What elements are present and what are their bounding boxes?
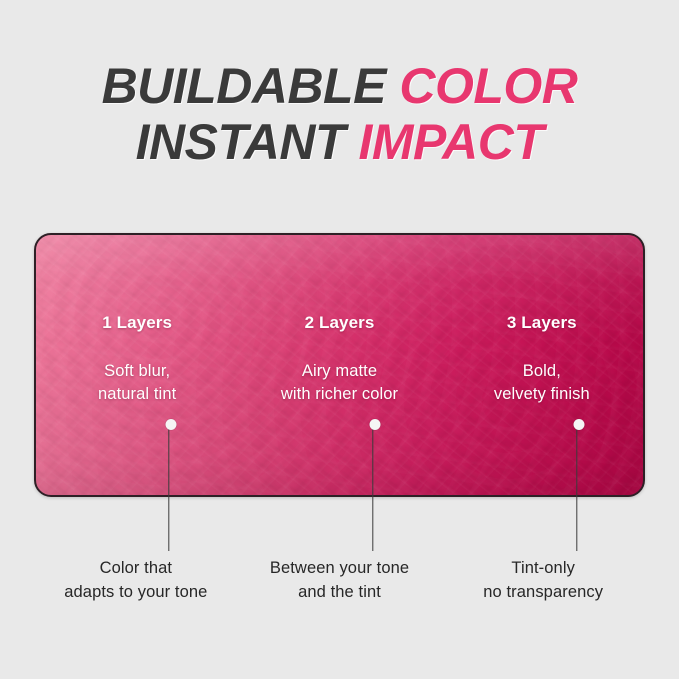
headline-word-buildable: BUILDABLE — [102, 58, 386, 114]
layer-description-3: Bold, velvety finish — [441, 360, 643, 406]
layer-title-2: 2 Layers — [238, 313, 440, 333]
layer-column-2: 2 Layers Airy matte with richer color — [238, 235, 440, 495]
layer-description-2: Airy matte with richer color — [238, 360, 440, 406]
promo-image-root: BUILDABLE COLOR INSTANT IMPACT 1 Layers … — [0, 0, 679, 679]
layer-dot-marker-2 — [370, 419, 381, 430]
headline: BUILDABLE COLOR INSTANT IMPACT — [0, 58, 679, 170]
headline-word-impact: IMPACT — [358, 114, 543, 170]
headline-word-color: COLOR — [399, 58, 577, 114]
layer-columns: 1 Layers Soft blur, natural tint 2 Layer… — [36, 235, 643, 495]
layer-dot-marker-3 — [574, 419, 585, 430]
caption-row: Color that adapts to your tone Between y… — [34, 556, 645, 604]
layer-title-1: 1 Layers — [36, 313, 238, 333]
layer-title-3: 3 Layers — [441, 313, 643, 333]
swatch-sheen-overlay — [36, 235, 643, 495]
headline-line-2: INSTANT IMPACT — [0, 114, 679, 170]
leader-line-1 — [168, 423, 169, 551]
headline-word-instant: INSTANT — [136, 114, 345, 170]
color-swatch-panel: 1 Layers Soft blur, natural tint 2 Layer… — [34, 233, 645, 497]
headline-line-1: BUILDABLE COLOR — [0, 58, 679, 114]
layer-description-1: Soft blur, natural tint — [36, 360, 238, 406]
swatch-texture-overlay — [34, 233, 645, 497]
leader-line-3 — [576, 423, 577, 551]
layer-column-3: 3 Layers Bold, velvety finish — [441, 235, 643, 495]
layer-dot-marker-1 — [166, 419, 177, 430]
caption-1: Color that adapts to your tone — [34, 556, 238, 604]
layer-column-1: 1 Layers Soft blur, natural tint — [36, 235, 238, 495]
leader-line-2 — [372, 423, 373, 551]
caption-2: Between your tone and the tint — [238, 556, 442, 604]
caption-3: Tint-only no transparency — [441, 556, 645, 604]
